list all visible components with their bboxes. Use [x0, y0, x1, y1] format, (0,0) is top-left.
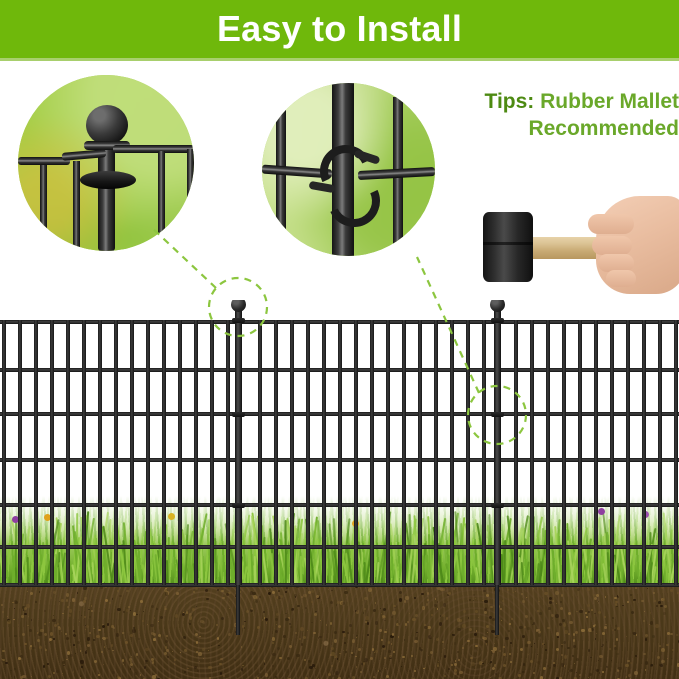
- soil-grain: [381, 613, 382, 614]
- soil-grain: [138, 638, 140, 640]
- fence-panels: [0, 300, 679, 600]
- soil-grain: [444, 675, 446, 677]
- soil-grain: [67, 606, 69, 608]
- soil-grain: [404, 600, 406, 602]
- fence-vertical-bar: [658, 320, 662, 585]
- soil-grain: [211, 645, 212, 646]
- soil-grain: [654, 600, 656, 602]
- soil-grain: [490, 606, 493, 609]
- soil-grain: [667, 632, 670, 635]
- soil-grain: [202, 648, 205, 651]
- soil-grain: [632, 632, 634, 634]
- soil-grain: [255, 664, 258, 667]
- soil-grain: [62, 661, 65, 664]
- soil-grain: [345, 651, 347, 653]
- soil-grain: [442, 641, 444, 643]
- fence-post: [494, 311, 501, 585]
- soil-grain: [398, 636, 400, 638]
- soil-grain: [263, 611, 265, 613]
- soil-grain: [392, 611, 395, 614]
- soil-grain: [49, 642, 50, 643]
- fence-vertical-bar: [450, 320, 454, 585]
- soil-grain: [576, 672, 578, 674]
- soil-grain: [591, 628, 594, 631]
- soil-grain: [548, 607, 551, 610]
- soil-grain: [567, 647, 569, 649]
- soil-grain: [122, 632, 124, 634]
- soil-grain: [393, 651, 394, 652]
- soil-grain: [24, 613, 26, 615]
- soil-grain: [125, 639, 126, 640]
- soil-grain: [274, 628, 275, 629]
- soil-grain: [343, 633, 346, 636]
- soil-grain: [91, 610, 93, 612]
- soil-grain: [375, 602, 377, 604]
- soil-grain: [147, 624, 148, 625]
- soil-grain: [18, 657, 21, 660]
- soil-grain: [334, 655, 337, 658]
- soil-grain: [490, 677, 491, 678]
- fence-vertical-bar: [210, 320, 214, 585]
- soil-grain: [109, 602, 110, 603]
- soil-grain: [488, 664, 489, 665]
- soil-grain: [174, 663, 175, 664]
- soil-grain: [509, 653, 511, 655]
- soil-grain: [56, 670, 59, 673]
- soil-grain: [564, 655, 567, 658]
- fence-vertical-bar: [594, 320, 598, 585]
- soil-grain: [132, 629, 136, 633]
- soil-grain: [434, 604, 436, 606]
- soil-grain: [143, 611, 144, 612]
- soil-grain: [174, 659, 176, 661]
- soil-grain: [527, 641, 530, 644]
- soil-grain: [108, 648, 110, 650]
- soil-grain: [81, 615, 82, 616]
- fence-vertical-bar: [546, 320, 550, 585]
- soil-grain: [661, 648, 665, 652]
- soil-grain: [53, 615, 54, 616]
- soil-grain: [287, 657, 290, 660]
- soil-grain: [386, 675, 389, 678]
- soil-grain: [660, 605, 662, 607]
- soil-grain: [475, 645, 478, 648]
- soil-grain: [339, 653, 340, 654]
- soil-grain: [104, 646, 106, 648]
- soil-grain: [153, 638, 156, 641]
- soil-grain: [454, 663, 457, 666]
- fence-vertical-bar: [610, 320, 614, 585]
- post-collar: [491, 503, 504, 508]
- soil-grain: [475, 610, 478, 613]
- soil-grain: [219, 663, 222, 666]
- soil-grain: [315, 611, 317, 613]
- soil-grain: [123, 611, 125, 613]
- fence-vertical-bar: [194, 320, 198, 585]
- soil-grain: [133, 612, 136, 615]
- soil-grain: [602, 644, 604, 646]
- soil-grain: [499, 650, 501, 652]
- soil-grain: [31, 619, 33, 621]
- soil-grain: [276, 624, 277, 625]
- soil-grain: [86, 625, 89, 628]
- soil-grain: [308, 660, 310, 662]
- soil-grain: [412, 618, 415, 621]
- soil-grain: [272, 637, 275, 640]
- fence-vertical-bar: [226, 320, 230, 585]
- soil-grain: [494, 643, 496, 645]
- soil-grain: [653, 618, 654, 619]
- soil-grain: [151, 605, 154, 608]
- soil-grain: [576, 611, 578, 613]
- soil-grain: [347, 632, 349, 634]
- soil-grain: [264, 660, 265, 661]
- fence-vertical-bar: [2, 320, 6, 585]
- mallet-head: [483, 212, 533, 282]
- soil-grain: [618, 667, 621, 670]
- soil-grain: [160, 616, 163, 619]
- soil-grain: [63, 665, 64, 666]
- soil-grain: [552, 600, 554, 602]
- soil-grain: [589, 673, 592, 676]
- soil-grain: [73, 644, 75, 646]
- soil-grain: [430, 651, 433, 654]
- soil-grain: [175, 614, 178, 617]
- soil-grain: [454, 642, 456, 644]
- soil-grain: [487, 632, 488, 633]
- soil-grain: [426, 603, 429, 606]
- soil-grain: [197, 670, 199, 672]
- soil-grain: [125, 641, 128, 644]
- soil-grain: [62, 613, 63, 614]
- soil-grain: [319, 636, 322, 639]
- soil-grain: [630, 662, 632, 664]
- soil-grain: [117, 608, 120, 611]
- soil-grain: [652, 635, 655, 638]
- soil-grain: [275, 618, 278, 621]
- soil-grain: [568, 633, 571, 636]
- soil-grain: [570, 669, 573, 672]
- soil-grain: [523, 663, 526, 666]
- soil-grain: [130, 668, 131, 669]
- soil-grain: [518, 674, 520, 676]
- soil-grain: [244, 621, 246, 623]
- soil-grain: [277, 647, 280, 650]
- tips-text-line1: Rubber Mallet: [540, 90, 679, 113]
- soil-grain: [87, 644, 90, 647]
- soil-grain: [402, 662, 403, 663]
- soil-grain: [474, 633, 477, 636]
- soil-grain: [581, 629, 584, 632]
- fence-vertical-bar: [322, 320, 326, 585]
- soil-grain: [295, 632, 297, 634]
- soil-grain: [48, 675, 51, 678]
- soil-grain: [533, 622, 535, 624]
- soil-grain: [397, 619, 398, 620]
- soil-grain: [134, 672, 137, 675]
- soil-grain: [575, 631, 577, 633]
- soil-grain: [196, 641, 199, 644]
- soil-grain: [627, 601, 629, 603]
- soil-grain: [539, 612, 542, 615]
- soil-grain: [602, 632, 605, 635]
- soil-grain: [44, 610, 46, 612]
- soil-grain: [98, 629, 101, 632]
- soil-grain: [14, 608, 15, 609]
- soil-grain: [470, 657, 473, 660]
- fence-vertical-bar: [418, 320, 422, 585]
- middle-finger: [592, 236, 632, 255]
- soil-grain: [431, 614, 433, 616]
- soil-grain: [152, 661, 154, 663]
- soil-grain: [70, 654, 73, 657]
- soil-grain: [93, 639, 95, 641]
- soil-grain: [73, 671, 75, 673]
- soil-grain: [27, 625, 29, 627]
- soil-grain: [331, 665, 332, 666]
- soil-grain: [522, 600, 525, 603]
- soil-grain: [579, 674, 581, 676]
- soil-grain: [482, 663, 483, 664]
- soil-grain: [251, 608, 252, 609]
- soil-grain: [561, 654, 563, 656]
- soil-grain: [383, 608, 387, 612]
- tips-text-line2: Recommended: [444, 115, 679, 142]
- fence-vertical-bar: [66, 320, 70, 585]
- soil-grain: [446, 617, 448, 619]
- soil-grain: [142, 620, 144, 622]
- soil-grain: [606, 666, 608, 668]
- soil-grain: [229, 608, 230, 609]
- inset-post-saddle: [80, 171, 136, 189]
- soil-grain: [14, 635, 17, 638]
- soil-grain: [423, 668, 425, 670]
- soil-grain: [579, 610, 582, 613]
- soil-grain: [167, 656, 169, 658]
- inset-vbar-4: [187, 149, 194, 249]
- soil-grain: [130, 634, 133, 637]
- soil-grain: [199, 636, 200, 637]
- soil-grain: [636, 634, 638, 636]
- soil-grain: [659, 645, 661, 647]
- soil-grain: [311, 601, 313, 603]
- soil-grain: [585, 612, 587, 614]
- fence-vertical-bar: [370, 320, 374, 585]
- soil-grain: [158, 621, 159, 622]
- soil-grain: [279, 657, 281, 659]
- soil-grain: [384, 631, 386, 633]
- soil-grain: [145, 648, 148, 651]
- soil-grain: [478, 617, 479, 618]
- soil-grain: [510, 661, 512, 663]
- soil-grain: [522, 635, 525, 638]
- soil-grain: [393, 605, 396, 608]
- soil-grain: [531, 646, 532, 647]
- soil-grain: [153, 633, 156, 636]
- soil-grain: [356, 610, 359, 613]
- soil-grain: [81, 666, 83, 668]
- soil-grain: [484, 600, 487, 603]
- soil-grain: [80, 660, 83, 663]
- soil-grain: [556, 603, 557, 604]
- soil-grain: [367, 622, 369, 624]
- soil-grain: [601, 676, 602, 677]
- soil-grain: [505, 637, 508, 640]
- soil-grain: [437, 601, 438, 602]
- soil-grain: [424, 626, 427, 629]
- soil-grain: [184, 671, 185, 672]
- soil-grain: [158, 634, 161, 637]
- soil-grain: [628, 674, 631, 677]
- soil-grain: [50, 632, 53, 635]
- soil-grain: [557, 636, 559, 638]
- soil-grain: [130, 610, 131, 611]
- inset-vbar-2: [40, 165, 47, 251]
- soil-grain: [194, 666, 197, 669]
- soil-grain: [275, 630, 278, 633]
- soil-grain: [234, 659, 236, 661]
- soil-grain: [626, 676, 627, 677]
- soil-grain: [384, 620, 385, 621]
- soil-grain: [538, 601, 540, 603]
- soil-grain: [641, 600, 643, 602]
- soil-grain: [344, 642, 346, 644]
- soil-grain: [364, 608, 366, 610]
- soil-grain: [414, 670, 416, 672]
- soil-grain: [255, 600, 258, 603]
- soil-grain: [625, 664, 628, 667]
- soil-grain: [667, 658, 668, 659]
- soil-grain: [299, 638, 301, 640]
- soil-grain: [265, 618, 268, 621]
- soil-grain: [85, 629, 86, 630]
- soil-grain: [380, 608, 381, 609]
- soil-grain: [272, 642, 274, 644]
- fence-vertical-bar: [482, 320, 486, 585]
- banner-title: Easy to Install: [0, 0, 679, 58]
- soil-grain: [229, 601, 230, 602]
- soil-grain: [495, 637, 496, 638]
- little-finger: [606, 270, 636, 287]
- soil-grain: [500, 608, 502, 610]
- soil-grain: [265, 673, 269, 677]
- fence-vertical-bar: [130, 320, 134, 585]
- soil-grain: [94, 660, 97, 663]
- soil-grain: [635, 655, 637, 657]
- soil-grain: [195, 633, 198, 636]
- soil-grain: [609, 648, 611, 650]
- soil-grain: [511, 618, 513, 620]
- soil-grain: [590, 657, 591, 658]
- soil-grain: [220, 672, 222, 674]
- soil-grain: [381, 639, 383, 641]
- post-collar: [491, 318, 504, 323]
- soil-grain: [73, 634, 76, 637]
- soil-grain: [588, 677, 589, 678]
- soil-grain: [331, 647, 334, 650]
- soil-grain: [198, 652, 201, 655]
- soil-grain: [152, 675, 155, 678]
- soil-grain: [593, 625, 595, 627]
- tips-block: Tips: Rubber Mallet Recommended: [444, 88, 679, 143]
- soil-grain: [534, 643, 535, 644]
- soil-grain: [455, 660, 457, 662]
- soil-grain: [643, 620, 644, 621]
- soil-grain: [598, 660, 599, 661]
- soil-grain: [645, 661, 649, 665]
- soil-grain: [598, 611, 601, 614]
- soil-grain: [330, 601, 333, 604]
- soil-grain: [59, 601, 60, 602]
- soil-grain: [102, 639, 103, 640]
- soil-grain: [65, 633, 67, 635]
- soil-grain: [484, 611, 487, 614]
- soil-grain: [320, 620, 322, 622]
- soil-grain: [165, 640, 168, 643]
- soil-grain: [573, 645, 576, 648]
- soil-grain: [136, 653, 138, 655]
- soil-grain: [601, 646, 603, 648]
- soil-grain: [560, 601, 562, 603]
- soil-grain: [409, 670, 411, 672]
- soil-grain: [401, 666, 402, 667]
- soil-grain: [551, 614, 554, 617]
- soil-grain: [502, 600, 504, 602]
- soil-grain: [614, 629, 616, 631]
- soil-grain: [542, 643, 544, 645]
- soil-grain: [519, 626, 522, 629]
- soil-grain: [68, 614, 72, 618]
- soil-grain: [543, 667, 546, 670]
- soil-grain: [457, 651, 459, 653]
- soil-grain: [91, 605, 93, 607]
- soil-grain: [84, 616, 86, 618]
- soil-grain: [315, 668, 316, 669]
- soil-grain: [189, 616, 192, 619]
- soil-grain: [199, 661, 200, 662]
- soil-grain: [391, 643, 392, 644]
- soil-grain: [443, 603, 447, 607]
- post-ground-stake: [495, 585, 499, 635]
- soil-grain: [407, 621, 409, 623]
- fence-vertical-bar: [146, 320, 150, 585]
- soil-grain: [537, 654, 538, 655]
- fence-vertical-bar: [578, 320, 582, 585]
- soil-grain: [62, 675, 63, 676]
- soil-grain: [1, 604, 3, 606]
- soil-grain: [671, 658, 672, 659]
- soil-grain: [44, 633, 47, 636]
- soil-grain: [645, 638, 647, 640]
- soil-grain: [382, 615, 385, 618]
- soil-grain: [656, 605, 659, 608]
- soil-grain: [644, 611, 645, 612]
- soil-grain: [599, 655, 602, 658]
- soil-grain: [616, 606, 617, 607]
- soil-grain: [47, 663, 49, 665]
- soil-grain: [103, 664, 104, 665]
- soil-grain: [106, 637, 108, 639]
- soil-grain: [549, 667, 551, 669]
- soil-grain: [606, 641, 608, 643]
- inset-s-hook: [262, 83, 435, 256]
- soil-grain: [591, 609, 593, 611]
- soil-grain: [370, 657, 373, 660]
- soil-grain: [313, 632, 316, 635]
- fence-vertical-bar: [466, 320, 470, 585]
- fence-vertical-bar: [514, 320, 518, 585]
- soil-grain: [257, 626, 260, 629]
